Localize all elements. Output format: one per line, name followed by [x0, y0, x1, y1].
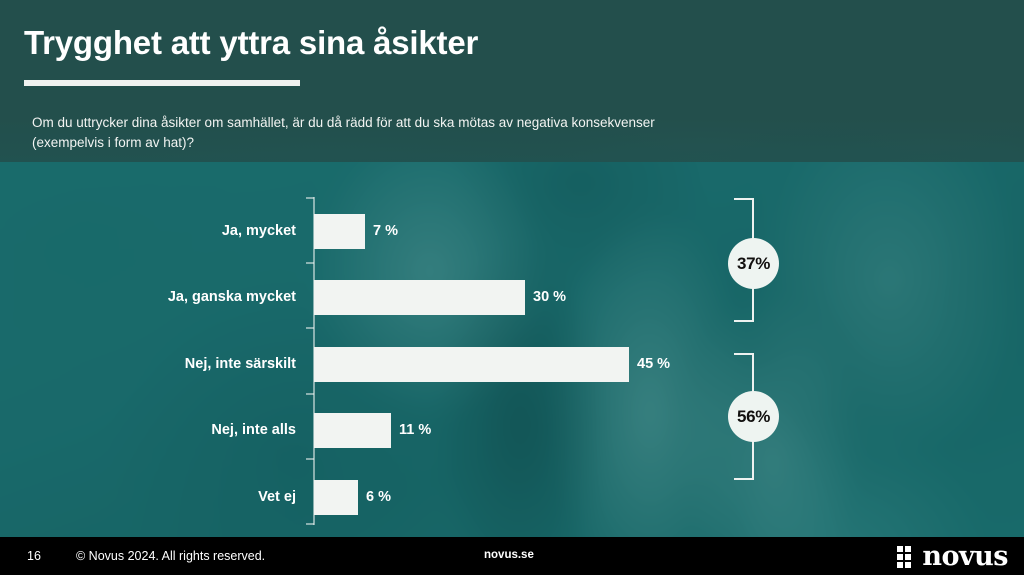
logo-square [905, 554, 911, 560]
logo-square [905, 562, 911, 568]
axis-tick [306, 197, 314, 199]
bar-category-label: Ja, ganska mycket [168, 289, 296, 305]
bar-nej-inte-alls [314, 413, 391, 448]
bar-category-label: Nej, inte särskilt [185, 356, 296, 372]
question-subtitle: Om du uttrycker dina åsikter om samhälle… [32, 113, 712, 153]
bar-value-label: 11 % [399, 422, 431, 438]
logo-square [897, 562, 903, 568]
axis-tick [306, 262, 314, 264]
bar-nej-inte-sarskilt [314, 347, 629, 382]
title-underline [24, 80, 300, 86]
bar-chart: Ja, mycket 7 % Ja, ganska mycket 30 % Ne… [0, 162, 1024, 537]
axis-tick [306, 327, 314, 329]
bar-category-label: Ja, mycket [222, 223, 296, 239]
novus-logo: novus [897, 544, 1008, 570]
logo-square [897, 554, 903, 560]
slide-header: Trygghet att yttra sina åsikter Om du ut… [0, 0, 1024, 162]
page-number: 16 [27, 549, 41, 563]
axis-tick [306, 458, 314, 460]
page-title: Trygghet att yttra sina åsikter [24, 24, 478, 62]
axis-tick [306, 523, 314, 525]
logo-square-blank [913, 562, 919, 568]
slide: Trygghet att yttra sina åsikter Om du ut… [0, 0, 1024, 575]
logo-square-blank [913, 554, 919, 560]
bar-value-label: 30 % [533, 289, 566, 305]
bar-ja-mycket [314, 214, 365, 249]
logo-square [905, 546, 911, 552]
bar-value-label: 7 % [373, 223, 398, 239]
summary-badge-nej: 56% [728, 391, 779, 442]
copyright-text: © Novus 2024. All rights reserved. [76, 549, 265, 563]
summary-badge-ja: 37% [728, 238, 779, 289]
website-label: novus.se [484, 549, 534, 561]
bar-category-label: Nej, inte alls [211, 422, 296, 438]
bar-vet-ej [314, 480, 358, 515]
bar-value-label: 6 % [366, 489, 391, 505]
bar-value-label: 45 % [637, 356, 670, 372]
novus-logo-mark-icon [897, 546, 919, 568]
bar-ja-ganska-mycket [314, 280, 525, 315]
logo-square-blank [913, 546, 919, 552]
logo-square [897, 546, 903, 552]
axis-tick [306, 393, 314, 395]
novus-logo-text: novus [922, 544, 1008, 570]
slide-footer: 16 © Novus 2024. All rights reserved. no… [0, 537, 1024, 575]
bar-category-label: Vet ej [258, 489, 296, 505]
